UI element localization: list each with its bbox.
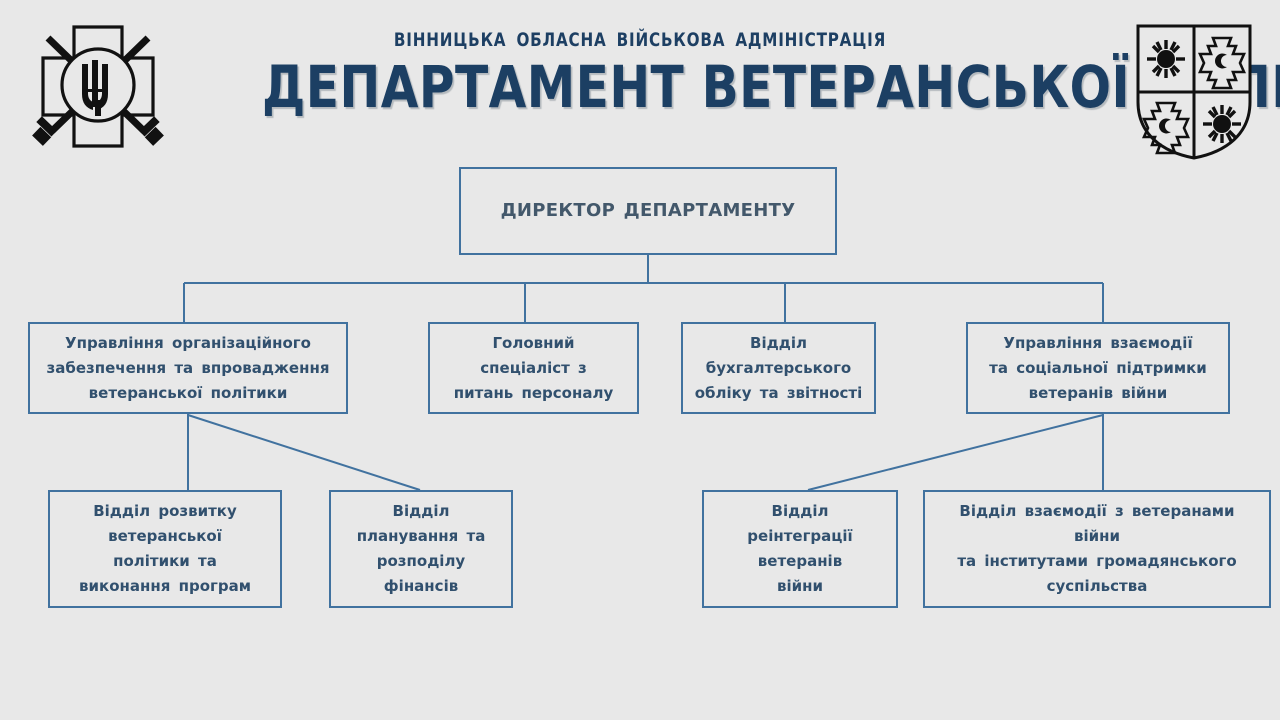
node-director[interactable]: ДИРЕКТОР ДЕПАРТАМЕНТУ	[459, 167, 837, 255]
node-accounting-department[interactable]: Відділ бухгалтерського обліку та звітнос…	[681, 322, 876, 414]
node-finance-planning-department-line-1: Відділ	[337, 499, 505, 524]
node-director-line-1: ДИРЕКТОР ДЕПАРТАМЕНТУ	[467, 199, 829, 223]
node-accounting-department-line-3: обліку та звітності	[689, 381, 868, 406]
node-hr-specialist-line-3: питань персоналу	[436, 381, 631, 406]
node-hr-specialist-line-2: спеціаліст з	[436, 356, 631, 381]
node-civil-society-interaction-department[interactable]: Відділ взаємодії з ветеранами війни та і…	[923, 490, 1271, 608]
node-finance-planning-department-line-3: розподілу	[337, 549, 505, 574]
node-veteran-policy-development-department-label: Відділ розвитку ветеранської політики та…	[50, 499, 280, 599]
node-accounting-department-line-2: бухгалтерського	[689, 356, 868, 381]
node-org-support-unit-line-1: Управління організаційного	[36, 331, 340, 356]
node-civil-society-interaction-department-line-4: суспільства	[931, 574, 1263, 599]
node-civil-society-interaction-department-line-2: війни	[931, 524, 1263, 549]
node-hr-specialist-line-1: Головний	[436, 331, 631, 356]
node-veteran-policy-development-department-line-3: політики та	[56, 549, 274, 574]
node-finance-planning-department-line-4: фінансів	[337, 574, 505, 599]
node-veteran-policy-development-department-line-1: Відділ розвитку	[56, 499, 274, 524]
node-veteran-policy-development-department-line-2: ветеранської	[56, 524, 274, 549]
node-org-support-unit-line-3: ветеранської політики	[36, 381, 340, 406]
node-accounting-department-line-1: Відділ	[689, 331, 868, 356]
node-hr-specialist[interactable]: Головний спеціаліст з питань персоналу	[428, 322, 639, 414]
node-interaction-and-social-support-unit[interactable]: Управління взаємодії та соціальної підтр…	[966, 322, 1230, 414]
node-veteran-reintegration-department-line-2: реінтеграції	[710, 524, 890, 549]
node-org-support-unit-label: Управління організаційного забезпечення …	[30, 331, 346, 406]
node-finance-planning-department[interactable]: Відділ планування та розподілу фінансів	[329, 490, 513, 608]
node-veteran-reintegration-department-line-3: ветеранів	[710, 549, 890, 574]
org-chart: ДИРЕКТОР ДЕПАРТАМЕНТУ Управління організ…	[0, 0, 1280, 720]
node-finance-planning-department-line-2: планування та	[337, 524, 505, 549]
node-veteran-reintegration-department-line-1: Відділ	[710, 499, 890, 524]
node-org-support-unit-line-2: забезпечення та впровадження	[36, 356, 340, 381]
node-veteran-reintegration-department[interactable]: Відділ реінтеграції ветеранів війни	[702, 490, 898, 608]
node-interaction-and-social-support-unit-line-1: Управління взаємодії	[974, 331, 1222, 356]
node-veteran-policy-development-department-line-4: виконання програм	[56, 574, 274, 599]
node-accounting-department-label: Відділ бухгалтерського обліку та звітнос…	[683, 331, 874, 406]
node-interaction-and-social-support-unit-line-3: ветеранів війни	[974, 381, 1222, 406]
node-hr-specialist-label: Головний спеціаліст з питань персоналу	[430, 331, 637, 406]
node-interaction-and-social-support-unit-line-2: та соціальної підтримки	[974, 356, 1222, 381]
node-veteran-reintegration-department-line-4: війни	[710, 574, 890, 599]
node-veteran-policy-development-department[interactable]: Відділ розвитку ветеранської політики та…	[48, 490, 282, 608]
node-veteran-reintegration-department-label: Відділ реінтеграції ветеранів війни	[704, 499, 896, 599]
node-finance-planning-department-label: Відділ планування та розподілу фінансів	[331, 499, 511, 599]
node-civil-society-interaction-department-label: Відділ взаємодії з ветеранами війни та і…	[925, 499, 1269, 599]
node-interaction-and-social-support-unit-label: Управління взаємодії та соціальної підтр…	[968, 331, 1228, 406]
node-civil-society-interaction-department-line-3: та інститутами громадянського	[931, 549, 1263, 574]
node-org-support-unit[interactable]: Управління організаційного забезпечення …	[28, 322, 348, 414]
node-director-label: ДИРЕКТОР ДЕПАРТАМЕНТУ	[461, 199, 835, 223]
node-civil-society-interaction-department-line-1: Відділ взаємодії з ветеранами	[931, 499, 1263, 524]
